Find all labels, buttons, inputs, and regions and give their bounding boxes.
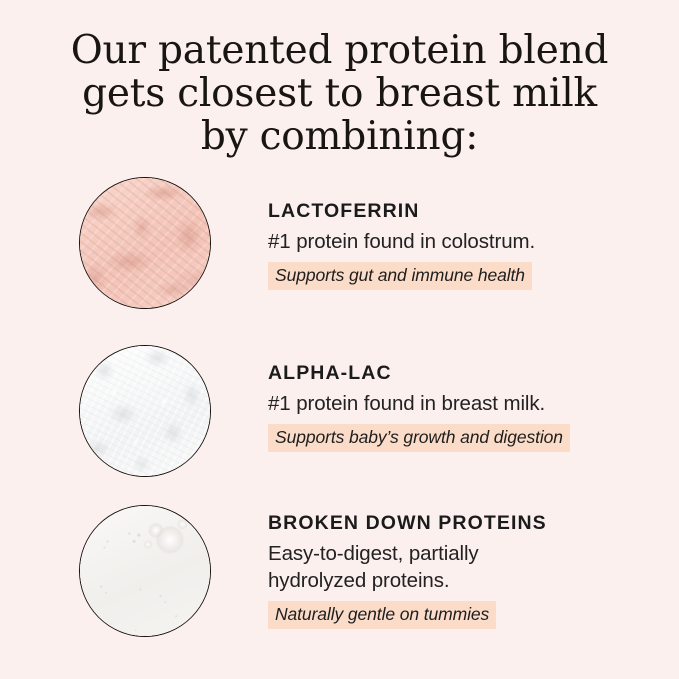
lactoferrin-powder-swatch [79, 177, 211, 309]
benefit-badge: Supports baby’s growth and digestion [268, 424, 570, 452]
alpha-lac-powder-swatch [79, 345, 211, 477]
list-item-content: BROKEN DOWN PROTEINS Easy-to-digest, par… [268, 511, 547, 629]
benefit-badge: Supports gut and immune health [268, 262, 532, 290]
list-item-content: ALPHA-LAC #1 protein found in breast mil… [268, 361, 570, 452]
ingredient-description: #1 protein found in colostrum. [268, 228, 535, 255]
ingredient-description: #1 protein found in breast milk. [268, 390, 570, 417]
broken-down-proteins-swatch [79, 505, 211, 637]
ingredient-title: LACTOFERRIN [268, 199, 535, 223]
page-title: Our patented protein blend gets closest … [0, 29, 679, 158]
powder-texture [79, 345, 211, 477]
page-title-line-1: Our patented protein blend [0, 29, 679, 72]
benefit-badge: Naturally gentle on tummies [268, 601, 496, 629]
page-title-line-3: by combining: [0, 115, 679, 158]
ingredient-description-line-1: Easy-to-digest, partially [268, 540, 547, 567]
ingredient-description-line-2: hydrolyzed proteins. [268, 567, 547, 594]
page-title-line-2: gets closest to breast milk [0, 72, 679, 115]
ingredient-title: BROKEN DOWN PROTEINS [268, 511, 547, 535]
list-item-content: LACTOFERRIN #1 protein found in colostru… [268, 199, 535, 290]
powder-texture [79, 177, 211, 309]
protein-blend-infographic: Our patented protein blend gets closest … [0, 0, 679, 679]
ingredient-title: ALPHA-LAC [268, 361, 570, 385]
liquid-droplet-texture [79, 505, 211, 637]
